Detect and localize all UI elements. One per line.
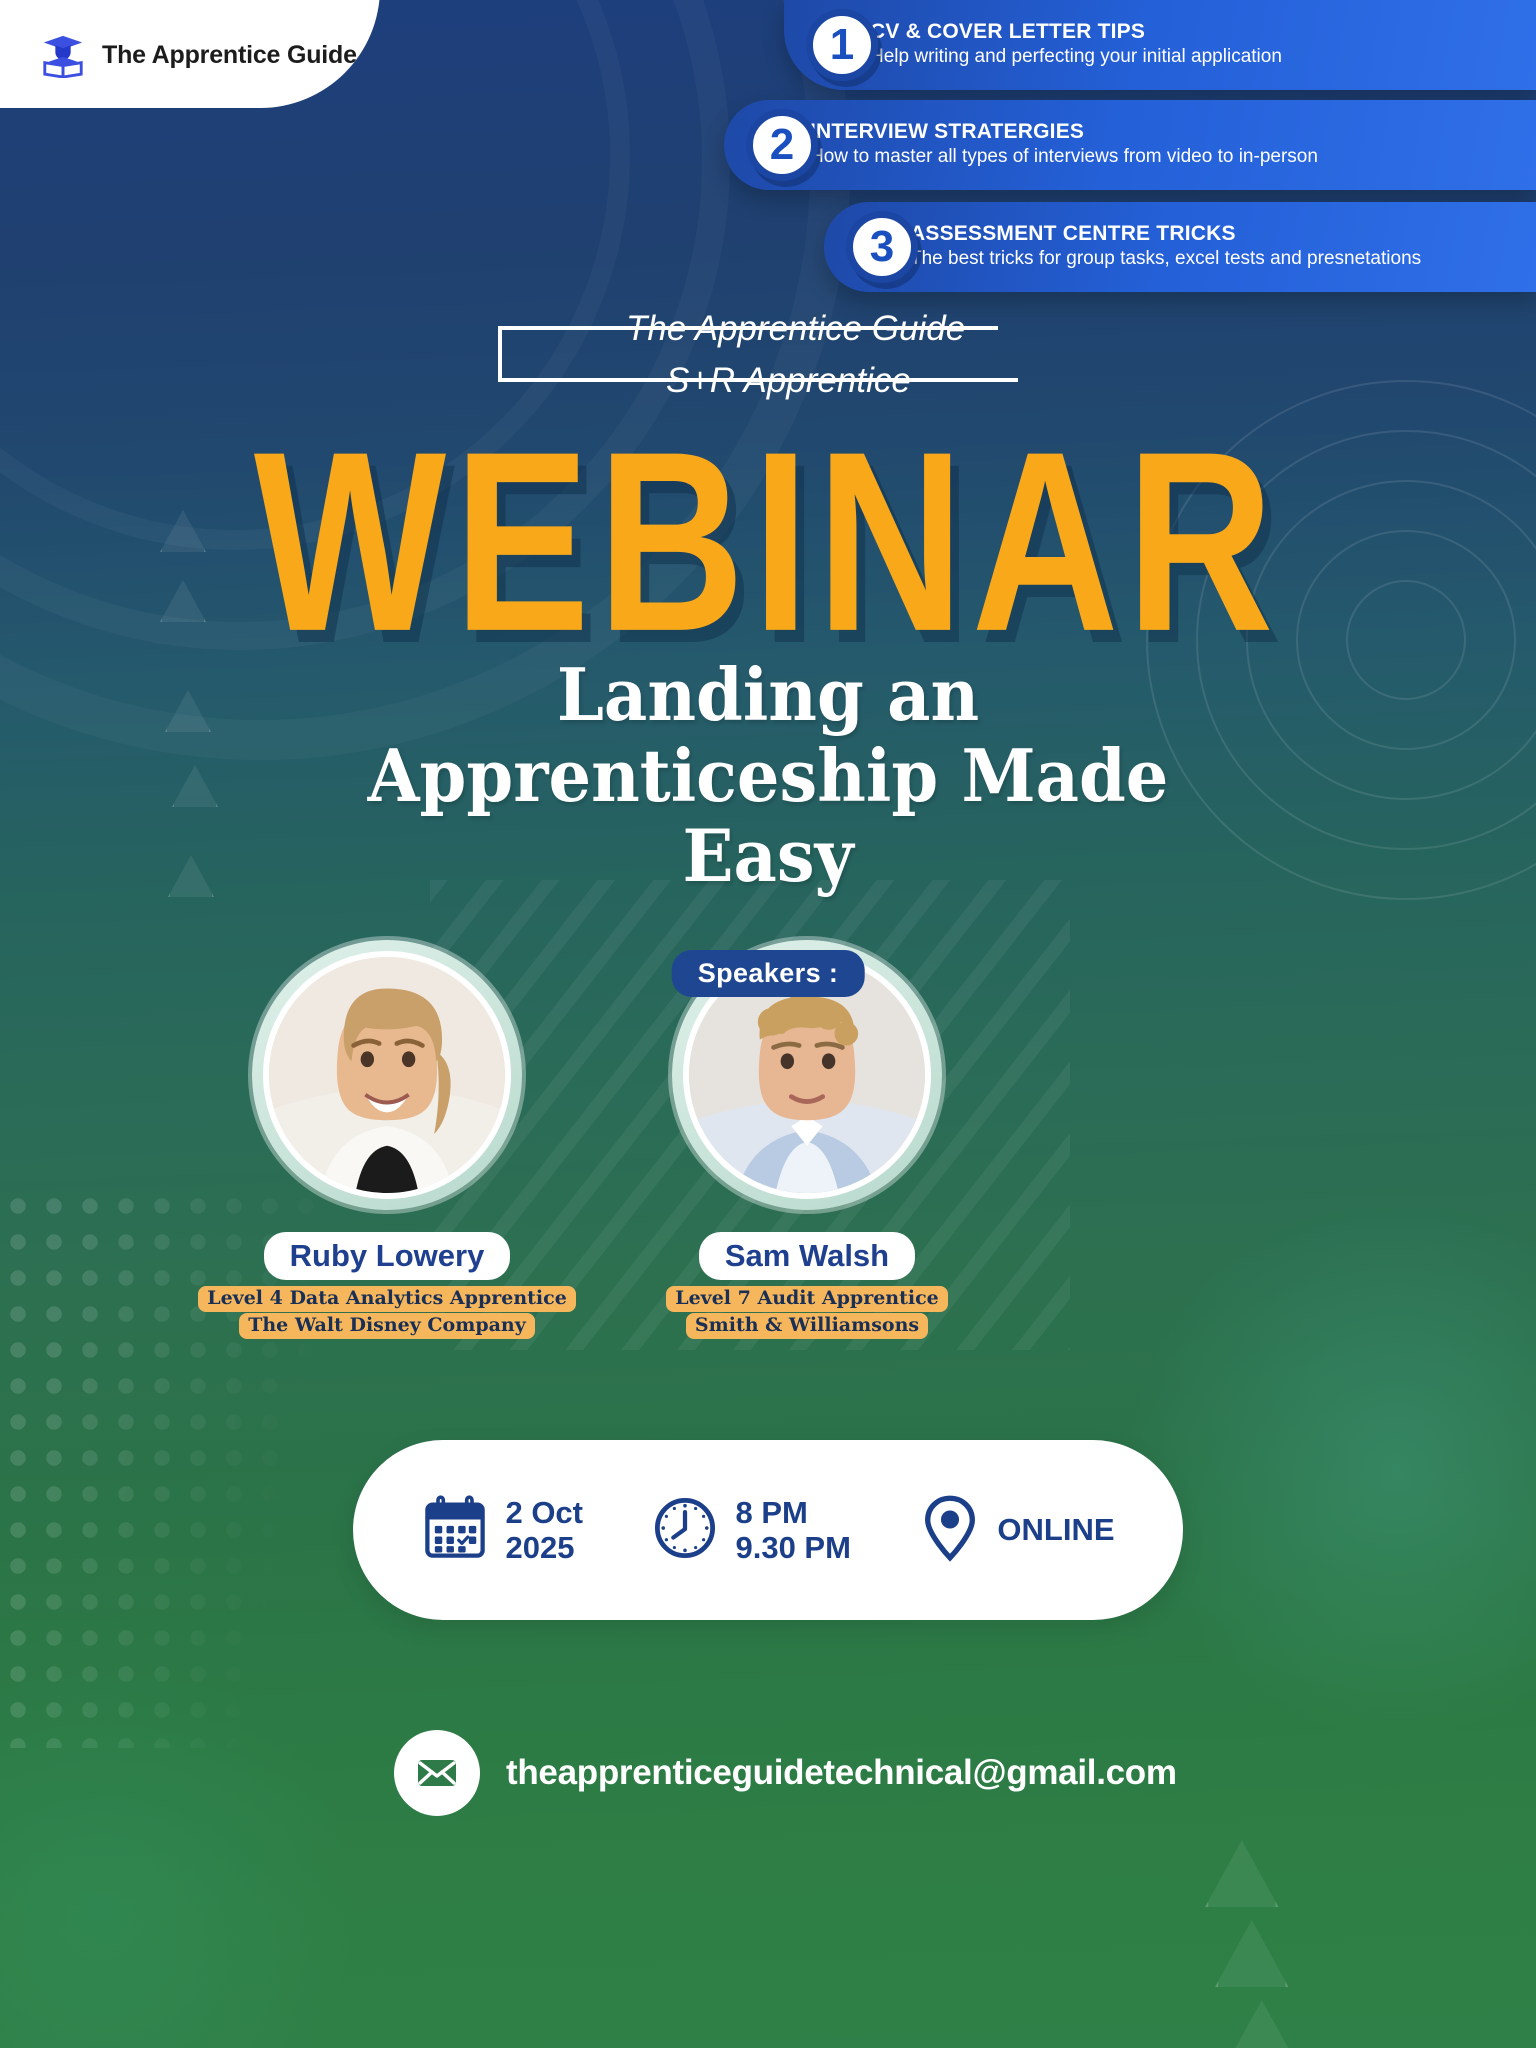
event-date: 2 Oct 2025 xyxy=(421,1494,583,1567)
event-location: ONLINE xyxy=(919,1494,1114,1567)
speaker-name-1: Ruby Lowery xyxy=(264,1232,511,1280)
event-location-text: ONLINE xyxy=(997,1512,1114,1547)
event-info-bar: 2 Oct 2025 xyxy=(353,1440,1183,1620)
hero-subtitle-line-3: Easy xyxy=(54,816,1482,897)
webinar-poster: The Apprentice Guide 1 CV & COVER LETTER… xyxy=(0,0,1536,2048)
speaker-credentials-1: Level 4 Data Analytics Apprentice The Wa… xyxy=(222,1286,552,1339)
hero-subtitle-line-2: Apprenticeship Made xyxy=(54,736,1482,817)
brand-logo-label: The Apprentice Guide xyxy=(102,41,357,70)
feature-card-2[interactable]: 2 INTERVIEW STRATERGIES How to master al… xyxy=(724,100,1536,190)
event-date-line-1: 2 Oct xyxy=(505,1495,583,1530)
hero-subtitle: Landing an Apprenticeship Made Easy xyxy=(54,655,1482,897)
feature-card-3[interactable]: 3 ASSESSMENT CENTRE TRICKS The best tric… xyxy=(824,202,1536,292)
feature-body-1: CV & COVER LETTER TIPS Help writing and … xyxy=(870,20,1282,68)
graduation-book-icon xyxy=(40,32,86,78)
hero-title-text: WEBINAR xyxy=(254,420,1281,663)
feature-body-2: INTERVIEW STRATERGIES How to master all … xyxy=(810,120,1318,168)
contact-email-text: theapprenticeguidetechnical@gmail.com xyxy=(506,1753,1177,1793)
feature-card-1[interactable]: 1 CV & COVER LETTER TIPS Help writing an… xyxy=(784,0,1536,90)
speaker-card-2: Sam Walsh Level 7 Audit Apprentice Smith… xyxy=(642,940,972,1339)
feature-title-3: ASSESSMENT CENTRE TRICKS xyxy=(910,222,1421,245)
hero-title: WEBINAR xyxy=(0,420,1536,620)
brand-logo: The Apprentice Guide xyxy=(0,0,380,108)
feature-number-1: 1 xyxy=(806,9,878,81)
feature-desc-2: How to master all types of interviews fr… xyxy=(810,145,1318,168)
speaker-name-2: Sam Walsh xyxy=(699,1232,915,1280)
hero-subtitle-line-1: Landing an xyxy=(54,655,1482,736)
feature-list: 1 CV & COVER LETTER TIPS Help writing an… xyxy=(716,0,1536,292)
speaker-company-1: The Walt Disney Company xyxy=(239,1313,535,1339)
kicker-line-1: The Apprentice Guide xyxy=(626,311,965,346)
event-time-line-1: 8 PM xyxy=(735,1495,807,1530)
calendar-icon xyxy=(421,1494,489,1567)
feature-number-2: 2 xyxy=(746,109,818,181)
speaker-company-2: Smith & Williamsons xyxy=(686,1313,928,1339)
feature-desc-1: Help writing and perfecting your initial… xyxy=(870,45,1282,68)
feature-title-2: INTERVIEW STRATERGIES xyxy=(810,120,1318,143)
teal-glow-decor xyxy=(1116,1188,1536,1748)
event-date-line-2: 2025 xyxy=(505,1530,574,1565)
clock-icon xyxy=(651,1494,719,1567)
speakers-badge: Speakers : xyxy=(672,950,865,997)
speaker-card-1: Ruby Lowery Level 4 Data Analytics Appre… xyxy=(222,940,552,1339)
green-glow-decor xyxy=(0,1648,360,2048)
feature-number-3: 3 xyxy=(846,211,918,283)
event-time-text: 8 PM 9.30 PM xyxy=(735,1495,850,1566)
speaker-avatar-ring-1 xyxy=(252,940,522,1210)
avatar xyxy=(263,951,511,1199)
event-date-text: 2 Oct 2025 xyxy=(505,1495,583,1566)
kicker-line-2: S+R Apprentice xyxy=(666,363,911,398)
speaker-role-1: Level 4 Data Analytics Apprentice xyxy=(198,1286,576,1312)
feature-title-1: CV & COVER LETTER TIPS xyxy=(870,20,1282,43)
map-pin-icon xyxy=(919,1494,981,1567)
feature-desc-3: The best tricks for group tasks, excel t… xyxy=(910,247,1421,270)
event-time-line-2: 9.30 PM xyxy=(735,1530,850,1565)
kicker-banner: The Apprentice Guide S+R Apprentice xyxy=(0,318,1536,396)
event-time: 8 PM 9.30 PM xyxy=(651,1494,850,1567)
speaker-role-2: Level 7 Audit Apprentice xyxy=(666,1286,948,1312)
contact-email-row[interactable]: theapprenticeguidetechnical@gmail.com xyxy=(394,1730,1177,1816)
envelope-icon xyxy=(394,1730,480,1816)
feature-body-3: ASSESSMENT CENTRE TRICKS The best tricks… xyxy=(910,222,1421,270)
speaker-credentials-2: Level 7 Audit Apprentice Smith & William… xyxy=(642,1286,972,1339)
